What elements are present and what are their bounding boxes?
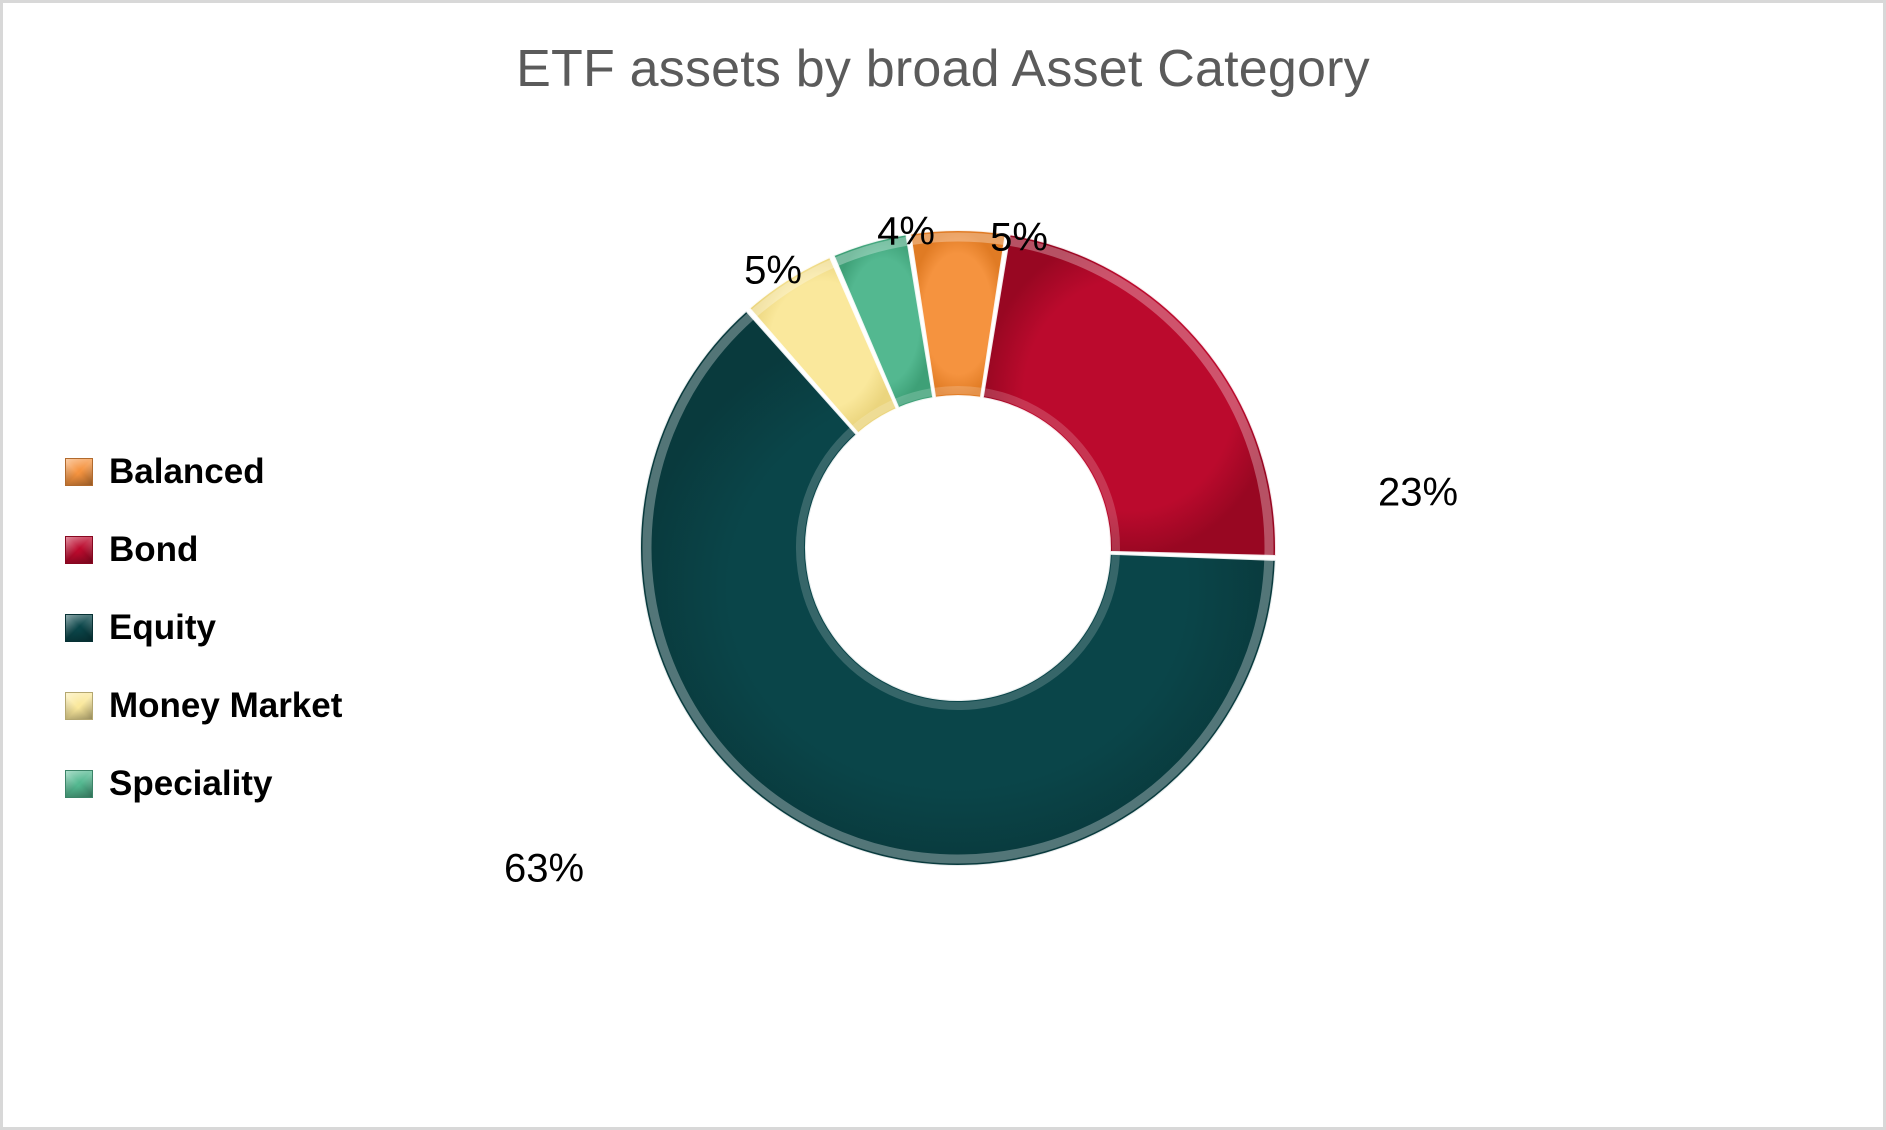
chart-legend: Balanced Bond Equity Money Market Specia… bbox=[65, 433, 425, 823]
donut-slice-inner-highlight bbox=[896, 392, 932, 403]
donut-slice-money-market[interactable] bbox=[749, 257, 897, 433]
legend-label-money-market: Money Market bbox=[109, 686, 342, 726]
donut-slice-rim-highlight bbox=[754, 263, 833, 313]
donut-slice-rim-highlight bbox=[836, 241, 907, 262]
data-label-bond: 23% bbox=[1378, 471, 1458, 516]
data-label-money-market: 5% bbox=[744, 249, 802, 294]
donut-slice-balanced[interactable] bbox=[910, 230, 1006, 398]
legend-label-speciality: Speciality bbox=[109, 764, 272, 804]
legend-item-equity[interactable]: Equity bbox=[65, 589, 425, 667]
data-label-speciality: 4% bbox=[877, 210, 935, 255]
legend-swatch-equity bbox=[65, 614, 93, 642]
legend-label-bond: Bond bbox=[109, 530, 198, 570]
donut-slice-rim-highlight bbox=[647, 316, 1269, 859]
donut-slice-speciality[interactable] bbox=[833, 234, 933, 408]
data-label-balanced: 5% bbox=[990, 216, 1048, 261]
donut-slice-inner-highlight bbox=[800, 430, 1116, 706]
donut-slice-inner-highlight bbox=[934, 390, 982, 392]
donut-slice-rim-highlight bbox=[911, 237, 1005, 241]
legend-label-balanced: Balanced bbox=[109, 452, 265, 492]
data-label-equity: 63% bbox=[504, 847, 584, 892]
donut-slice-bond[interactable] bbox=[983, 234, 1276, 556]
legend-item-bond[interactable]: Bond bbox=[65, 511, 425, 589]
legend-swatch-bond bbox=[65, 536, 93, 564]
legend-item-speciality[interactable]: Speciality bbox=[65, 745, 425, 823]
donut-slice-inner-highlight bbox=[854, 403, 894, 428]
chart-canvas: ETF assets by broad Asset Category Balan… bbox=[0, 0, 1886, 1130]
donut-slice-inner-highlight bbox=[984, 392, 1116, 552]
legend-swatch-money-market bbox=[65, 692, 93, 720]
legend-swatch-balanced bbox=[65, 458, 93, 486]
legend-item-money-market[interactable]: Money Market bbox=[65, 667, 425, 745]
legend-item-balanced[interactable]: Balanced bbox=[65, 433, 425, 511]
page-title: ETF assets by broad Asset Category bbox=[3, 39, 1883, 99]
legend-label-equity: Equity bbox=[109, 608, 216, 648]
donut-slice-equity[interactable] bbox=[640, 311, 1276, 866]
legend-swatch-speciality bbox=[65, 770, 93, 798]
donut-slice-rim-highlight bbox=[1009, 241, 1269, 556]
